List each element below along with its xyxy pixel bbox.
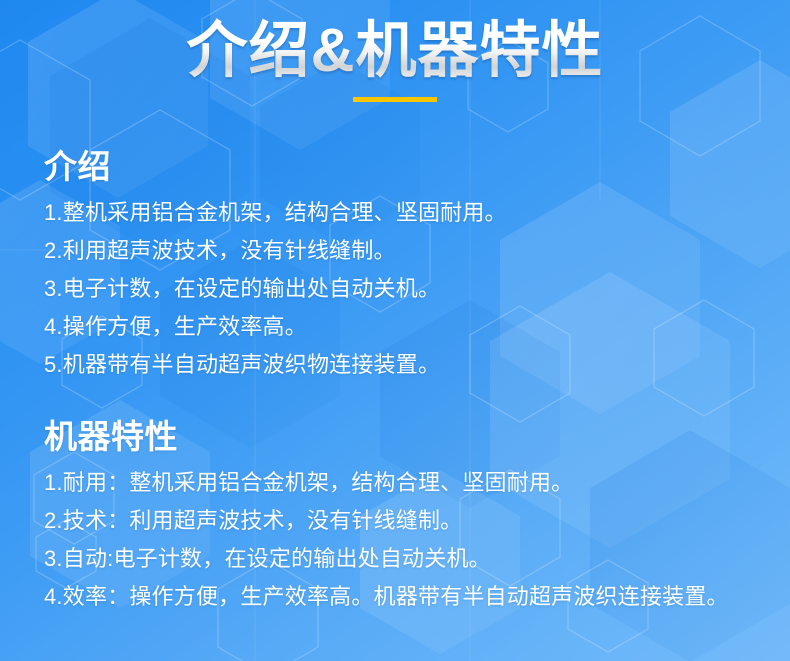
- list-item: 4.操作方便，生产效率高。: [44, 308, 764, 346]
- title-block: 介绍&机器特性: [0, 18, 790, 102]
- title-underline-accent: [353, 97, 437, 102]
- list-item: 3.电子计数，在设定的输出处自动关机。: [44, 270, 764, 308]
- list-item: 3.自动:电子计数，在设定的输出处自动关机。: [44, 540, 764, 578]
- section-machine-features: 机器特性 1.耐用：整机采用铝合金机架，结构合理、坚固耐用。 2.技术：利用超声…: [44, 418, 764, 616]
- page-title: 介绍&机器特性: [186, 18, 603, 84]
- list-item: 5.机器带有半自动超声波织物连接装置。: [44, 346, 764, 384]
- list-item: 2.技术：利用超声波技术，没有针线缝制。: [44, 502, 764, 540]
- list-item: 1.耐用：整机采用铝合金机架，结构合理、坚固耐用。: [44, 464, 764, 502]
- section-heading-machine-features: 机器特性: [44, 418, 764, 456]
- list-item: 1.整机采用铝合金机架，结构合理、坚固耐用。: [44, 194, 764, 232]
- section-introduction: 介绍 1.整机采用铝合金机架，结构合理、坚固耐用。 2.利用超声波技术，没有针线…: [44, 148, 764, 384]
- machine-features-item-list: 1.耐用：整机采用铝合金机架，结构合理、坚固耐用。 2.技术：利用超声波技术，没…: [44, 464, 764, 616]
- list-item: 4.效率：操作方便，生产效率高。机器带有半自动超声波织连接装置。: [44, 578, 764, 616]
- introduction-item-list: 1.整机采用铝合金机架，结构合理、坚固耐用。 2.利用超声波技术，没有针线缝制。…: [44, 194, 764, 384]
- section-heading-introduction: 介绍: [44, 148, 764, 186]
- list-item: 2.利用超声波技术，没有针线缝制。: [44, 232, 764, 270]
- product-detail-banner: 介绍&机器特性 介绍 1.整机采用铝合金机架，结构合理、坚固耐用。 2.利用超声…: [0, 0, 790, 661]
